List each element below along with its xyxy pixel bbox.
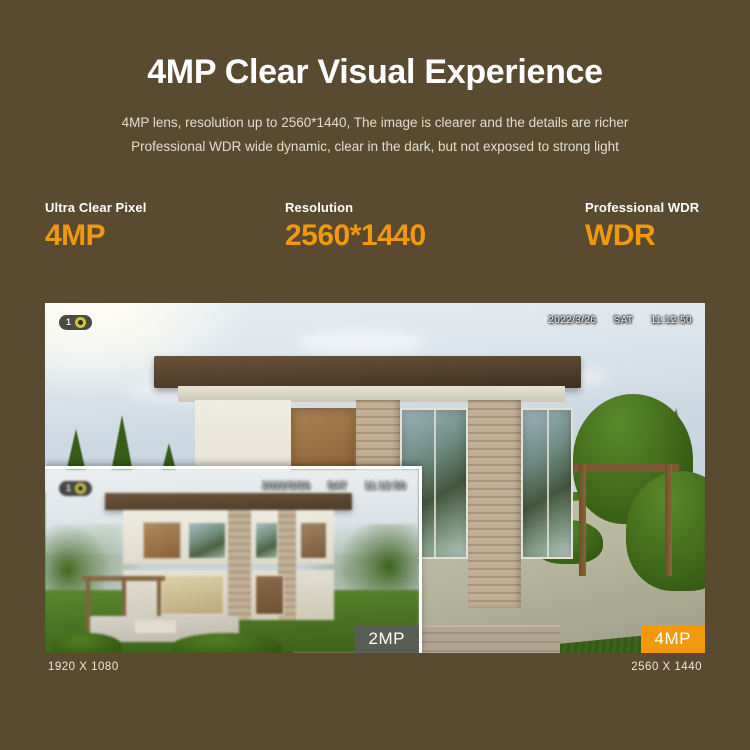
- inset-osd-channel-number: 1: [66, 484, 71, 493]
- inset-window-pane: [300, 522, 327, 559]
- feature-value: 2560*1440: [285, 220, 426, 252]
- inset-stone-column: [228, 510, 250, 620]
- feature-professional-wdr: Professional WDR WDR: [585, 200, 699, 252]
- osd-channel-number: 1: [66, 318, 71, 327]
- page-title: 4MP Clear Visual Experience: [0, 54, 750, 91]
- inset-osd-weekday: SAT: [328, 481, 348, 492]
- inset-window-pane: [255, 575, 284, 615]
- inset-hedge-row: [172, 633, 282, 653]
- page-subtitle: 4MP lens, resolution up to 2560*1440, Th…: [0, 111, 750, 157]
- osd-weekday: SAT: [614, 315, 634, 326]
- inset-patio-sofa: [135, 620, 176, 633]
- pergola-post: [579, 464, 586, 576]
- inset-window-pane: [161, 575, 224, 615]
- osd-channel-badge: 1: [59, 315, 92, 330]
- resolution-badge-2mp: 2MP: [355, 625, 419, 653]
- feature-label: Resolution: [285, 200, 426, 215]
- osd-timestamp: 2022/3/26 SAT 11:12:50: [548, 315, 692, 326]
- record-eye-icon: [75, 483, 86, 494]
- osd-date: 2022/3/26: [548, 315, 596, 326]
- feature-spec-row: Ultra Clear Pixel 4MP Resolution 2560*14…: [45, 200, 705, 270]
- feature-value: 4MP: [45, 220, 146, 252]
- resolution-badge-4mp: 4MP: [641, 625, 705, 653]
- cloud-shape: [296, 330, 426, 356]
- subtitle-line-1: 4MP lens, resolution up to 2560*1440, Th…: [0, 111, 750, 134]
- inset-osd-date: 2022/3/26: [262, 481, 310, 492]
- window-pane: [521, 408, 573, 559]
- hero-header: 4MP Clear Visual Experience 4MP lens, re…: [0, 0, 750, 158]
- pergola-beam: [573, 464, 679, 472]
- stone-column: [468, 400, 520, 608]
- pergola-post: [665, 464, 672, 576]
- roof-slab: [154, 356, 581, 388]
- inset-window-pane: [188, 522, 226, 559]
- feature-resolution: Resolution 2560*1440: [285, 200, 426, 252]
- osd-time: 11:12:50: [651, 315, 692, 326]
- feature-label: Ultra Clear Pixel: [45, 200, 146, 215]
- feature-label: Professional WDR: [585, 200, 699, 215]
- inset-osd-channel-badge: 1: [59, 481, 92, 496]
- inset-osd-timestamp: 2022/3/26 SAT 11:12:50: [262, 481, 406, 492]
- inset-hedge-row: [52, 633, 122, 653]
- inset-window-pane: [255, 522, 277, 559]
- inset-roof-slab: [105, 493, 352, 510]
- subtitle-line-2: Professional WDR wide dynamic, clear in …: [0, 135, 750, 158]
- caption-2mp-resolution: 1920 X 1080: [48, 661, 119, 673]
- feature-value: WDR: [585, 220, 699, 252]
- caption-4mp-resolution: 2560 X 1440: [631, 661, 702, 673]
- inset-window-pane: [143, 522, 181, 559]
- pergola-structure: [573, 464, 679, 576]
- inset-camera-view-2mp: 1 2022/3/26 SAT 11:12:50 2MP: [45, 466, 422, 653]
- feature-ultra-clear-pixel: Ultra Clear Pixel 4MP: [45, 200, 146, 252]
- camera-comparison-stage: 1 2022/3/26 SAT 11:12:50 4MP: [45, 303, 705, 653]
- record-eye-icon: [75, 317, 86, 328]
- window-mullion: [547, 410, 549, 557]
- inset-osd-time: 11:12:50: [365, 481, 406, 492]
- window-mullion: [434, 410, 436, 557]
